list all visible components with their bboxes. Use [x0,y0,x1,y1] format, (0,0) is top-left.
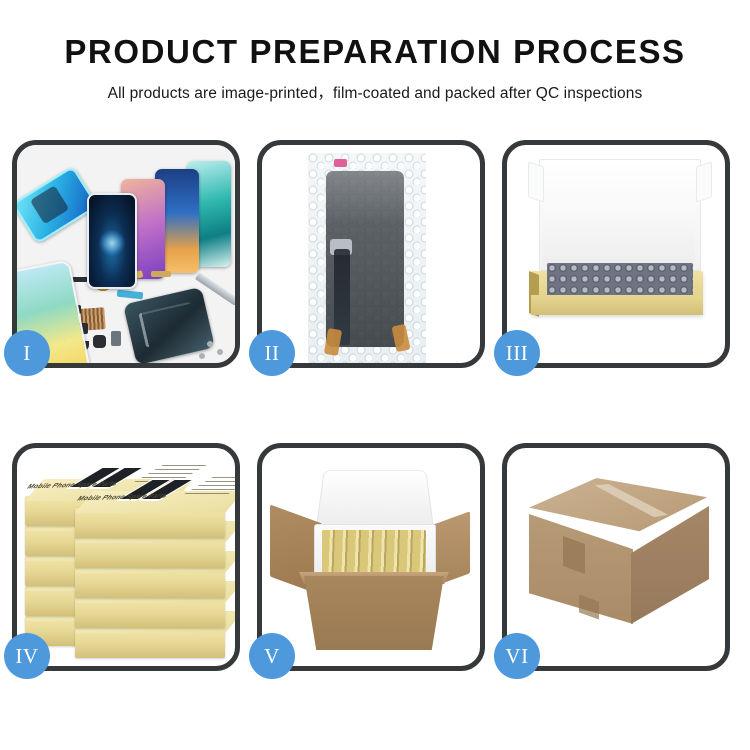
header: PRODUCT PREPARATION PROCESS All products… [0,0,750,103]
process-step-2: II [257,140,485,368]
process-step-3: III [502,140,730,368]
screw-part [199,353,205,359]
step-badge-3: III [494,330,540,376]
box-stack: Mobile Phone Spare Parts Mo [23,466,233,658]
retail-box [75,568,225,598]
button-part [93,335,106,348]
grey-bubble-wrapped-item [547,263,693,297]
process-step-4: Mobile Phone Spare Parts Mo [12,443,240,671]
screw-part [217,349,223,355]
process-step-6: VI [502,443,730,671]
yellow-box-front-edge [531,295,703,315]
step-badge-1: I [4,330,50,376]
carton-packing-scene [262,448,480,666]
step-badge-5: V [249,633,295,679]
foam-box-lid [316,470,435,530]
page-title: PRODUCT PREPARATION PROCESS [0,34,750,70]
process-steps-grid: I II [12,140,738,671]
step-6-image [507,448,725,666]
step-3-image [507,145,725,363]
bubble-wrap-scene [262,145,480,363]
step-5-image [262,448,480,666]
retail-box [75,538,225,568]
retail-box [75,628,225,658]
process-step-5: V [257,443,485,671]
ribbon-cable-part [117,290,144,300]
retail-box [75,598,225,628]
adhesive-tab-right [391,324,410,352]
step-2-image [262,145,480,363]
retail-box-front-top: Mobile Phone Spare Parts [75,508,225,538]
process-step-1: I [12,140,240,368]
phone-parts-scene [17,145,235,363]
gold-connector-part [151,271,171,277]
battery-connector-part [111,331,121,346]
step-badge-2: II [249,330,295,376]
bubble-wrap-bag [308,153,426,363]
product-preparation-infographic: PRODUCT PREPARATION PROCESS All products… [0,0,750,750]
step-4-image: Mobile Phone Spare Parts Mo [17,448,235,666]
step-badge-4: IV [4,633,50,679]
white-foam-sheet [543,201,695,267]
dark-screen-phone [87,193,137,289]
sealed-carton-scene [507,448,725,666]
inner-box-scene [507,145,725,363]
pink-tape-marker [334,159,347,167]
adhesive-tab-left [324,328,342,356]
screw-part [207,341,213,347]
carton-front-panel [298,576,450,650]
page-subtitle: All products are image-printed，film-coat… [0,81,750,103]
step-badge-6: VI [494,633,540,679]
step-1-image [17,145,235,363]
stacked-boxes-scene: Mobile Phone Spare Parts Mo [17,448,235,666]
